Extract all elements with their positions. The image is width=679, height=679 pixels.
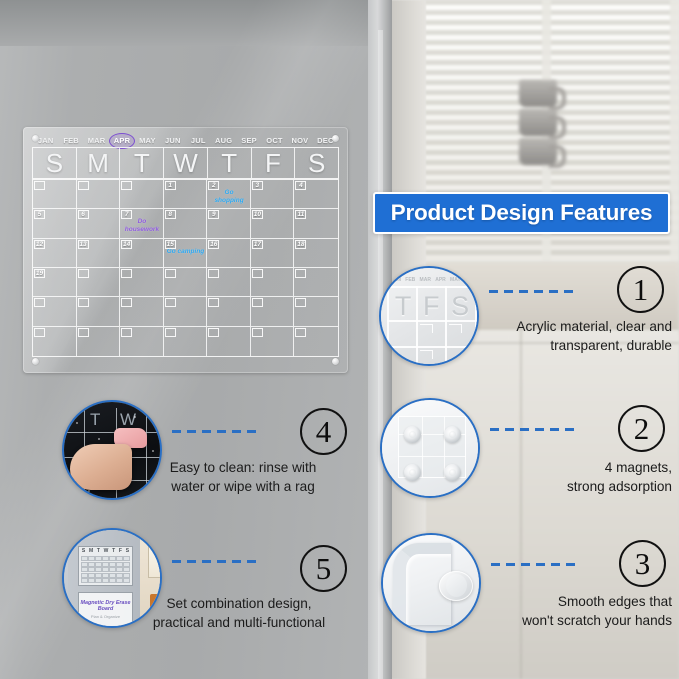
feature-4-number: 4 (300, 408, 347, 455)
calendar-date-grid[interactable]: 1Go shopping23456Do housework78910111213… (32, 179, 339, 357)
calendar-cell[interactable]: 14 (120, 239, 164, 268)
mini-calendar-cell (109, 562, 116, 567)
mini-weekday-letter: T (97, 548, 100, 555)
month-aug[interactable]: AUG (211, 136, 236, 145)
mini-calendar-cell (88, 567, 95, 572)
date-number-box: 13 (78, 240, 89, 249)
date-number-box (252, 269, 263, 278)
month-selector-row[interactable]: JANFEBMARAPRMAYJUNJULAUGSEPOCTNOVDEC (33, 133, 338, 148)
calendar-cell[interactable] (120, 268, 164, 297)
feature-3-line2: won't scratch your hands (420, 611, 672, 630)
mini-calendar-cell (123, 573, 130, 578)
date-number-box: 5 (34, 210, 45, 219)
calendar-cell[interactable]: 6 (77, 209, 121, 238)
month-sep[interactable]: SEP (236, 136, 261, 145)
feature-5-number: 5 (300, 545, 347, 592)
date-number-box: 15 (165, 240, 176, 249)
date-number-box: 8 (165, 210, 176, 219)
mini-calendar-cell (123, 567, 130, 572)
mini-weekday-letter: W (104, 548, 109, 555)
date-number-box: 12 (34, 240, 45, 249)
month-label: JUL (191, 136, 206, 145)
month-label: DEC (317, 136, 333, 145)
date-number-box (208, 298, 219, 307)
date-number-box (252, 298, 263, 307)
calendar-cell[interactable] (164, 327, 208, 356)
mini-weekday-letter: M (89, 548, 93, 555)
calendar-cell[interactable] (77, 297, 121, 326)
date-number-box (34, 181, 45, 190)
date-number-box: 3 (252, 181, 263, 190)
feature-5-connector (172, 560, 258, 563)
calendar-note: Go camping (167, 248, 205, 256)
date-number-box: 14 (121, 240, 132, 249)
feature-1-connector (489, 290, 577, 293)
mini-calendar-cell (95, 567, 102, 572)
calendar-cell[interactable]: 1 (164, 180, 208, 209)
stacked-mugs (505, 80, 591, 166)
month-oct[interactable]: OCT (262, 136, 287, 145)
date-number-box: 10 (252, 210, 263, 219)
calendar-cell[interactable]: 12 (33, 239, 77, 268)
mini-weekday-letter: S (82, 548, 85, 555)
date-number-box (78, 298, 89, 307)
calendar-cell[interactable] (33, 180, 77, 209)
date-number-box (165, 269, 176, 278)
calendar-cell[interactable] (120, 180, 164, 209)
mini-calendar-cell (81, 556, 88, 561)
feature-5-text: Set combination design, practical and mu… (108, 594, 370, 632)
mini-calendar-cell (109, 573, 116, 578)
month-label: JUN (165, 136, 181, 145)
month-label: MAY (139, 136, 156, 145)
feature-3-text: Smooth edges that won't scratch your han… (420, 592, 672, 630)
date-number-box: 1 (165, 181, 176, 190)
mini-calendar-cell (116, 567, 123, 572)
feature-4-connector (172, 430, 258, 433)
date-number-box: 18 (295, 240, 306, 249)
date-number-box (78, 328, 89, 337)
date-number-box (165, 298, 176, 307)
inset-month-label: FEB (405, 277, 415, 283)
date-number-box (121, 181, 132, 190)
date-number-box: 2 (208, 181, 219, 190)
date-number-box: 11 (295, 210, 306, 219)
calendar-cell[interactable] (294, 268, 338, 297)
calendar-cell[interactable] (164, 268, 208, 297)
mini-calendar-cell (88, 562, 95, 567)
feature-1-text: Acrylic material, clear and transparent,… (440, 317, 672, 355)
calendar-cell[interactable] (207, 327, 251, 356)
weekday-header-0: S (33, 148, 77, 178)
inset-weekday-letter: T (395, 291, 412, 322)
date-number-box: 9 (208, 210, 219, 219)
calendar-cell[interactable] (207, 268, 251, 297)
mini-calendar-cell (102, 556, 109, 561)
month-nov[interactable]: NOV (287, 136, 312, 145)
mini-calendar-cell (102, 573, 109, 578)
date-number-box: 7 (121, 210, 132, 219)
calendar-cell[interactable] (251, 297, 295, 326)
date-number-box: 4 (295, 181, 306, 190)
calendar-cell[interactable]: 11 (294, 209, 338, 238)
date-number-box (295, 328, 306, 337)
feature-4-line2: water or wipe with a rag (118, 477, 368, 496)
calendar-cell[interactable]: 19 (33, 268, 77, 297)
inset-month-label: MAR (420, 277, 431, 283)
mini-calendar-cell (116, 562, 123, 567)
calendar-cell[interactable]: 13 (77, 239, 121, 268)
mini-calendar-cell (81, 573, 88, 578)
weekday-header-3: W (164, 148, 208, 178)
feature-5-line1: Set combination design, (108, 594, 370, 613)
mini-calendar-cell (123, 562, 130, 567)
month-label: JAN (38, 136, 54, 145)
month-label: AUG (215, 136, 232, 145)
mini-weekday-letter: S (126, 548, 129, 555)
feature-2-line2: strong adsorption (440, 477, 672, 496)
calendar-cell[interactable] (120, 297, 164, 326)
calendar-cell[interactable]: Do housework7 (120, 209, 164, 238)
date-number-box: 17 (252, 240, 263, 249)
feature-1-line2: transparent, durable (440, 336, 672, 355)
month-dec[interactable]: DEC (313, 136, 338, 145)
date-number-box: 16 (208, 240, 219, 249)
calendar-cell[interactable] (251, 268, 295, 297)
calendar-cell[interactable]: 9 (207, 209, 251, 238)
feature-2-connector (490, 428, 576, 431)
mini-calendar-cell (123, 578, 130, 583)
month-feb[interactable]: FEB (58, 136, 83, 145)
inset-month-label: JUN (465, 277, 475, 283)
calendar-cell[interactable] (33, 327, 77, 356)
feature-5-line2: practical and multi-functional (108, 613, 370, 632)
mini-calendar-cell (95, 573, 102, 578)
page-title-banner: Product Design Features (373, 192, 670, 234)
date-number-box (121, 269, 132, 278)
weekday-header-5: F (252, 148, 296, 178)
calendar-cell[interactable] (77, 268, 121, 297)
calendar-cell[interactable] (251, 327, 295, 356)
calendar-cell[interactable]: 5 (33, 209, 77, 238)
weekday-header-4: T (208, 148, 252, 178)
date-number-box (78, 269, 89, 278)
calendar-cell[interactable]: 4 (294, 180, 338, 209)
calendar-cell[interactable]: 17 (251, 239, 295, 268)
month-jun[interactable]: JUN (160, 136, 185, 145)
mini-calendar-cell (102, 567, 109, 572)
month-label: APR (114, 136, 130, 145)
weekday-header-2: T (120, 148, 164, 178)
room-window (148, 538, 162, 578)
window-frame-right (670, 0, 679, 262)
mini-calendar-cell (109, 567, 116, 572)
feature-4-line1: Easy to clean: rinse with (118, 458, 368, 477)
mini-calendar-cell (123, 556, 130, 561)
date-number-box (208, 328, 219, 337)
magnet-bottom-left (32, 358, 39, 365)
date-number-box (34, 298, 45, 307)
date-number-box (78, 181, 89, 190)
weekday-header-1: M (77, 148, 121, 178)
month-label: FEB (63, 136, 79, 145)
inset-month-label: JAN (391, 277, 401, 283)
date-number-box (121, 328, 132, 337)
magnet-2 (444, 426, 461, 443)
feature-2-number: 2 (618, 405, 665, 452)
calendar-cell[interactable] (77, 180, 121, 209)
date-number-box (121, 298, 132, 307)
month-jan[interactable]: JAN (33, 136, 58, 145)
calendar-cell[interactable] (77, 327, 121, 356)
calendar-cell[interactable]: 10 (251, 209, 295, 238)
calendar-cell[interactable] (120, 327, 164, 356)
mini-calendar-cell (81, 562, 88, 567)
calendar-cell[interactable]: Go shopping2 (207, 180, 251, 209)
mini-calendar-cell (102, 562, 109, 567)
calendar-cell[interactable] (164, 297, 208, 326)
calendar-cell[interactable] (294, 327, 338, 356)
inset-month-label: APR (435, 277, 446, 283)
calendar-cell[interactable]: 16 (207, 239, 251, 268)
date-number-box (165, 328, 176, 337)
feature-4-text: Easy to clean: rinse with water or wipe … (118, 458, 368, 496)
date-number-box: 6 (78, 210, 89, 219)
month-mar[interactable]: MAR (84, 136, 109, 145)
calendar-cell[interactable]: 18 (294, 239, 338, 268)
calendar-cell[interactable] (33, 297, 77, 326)
mini-calendar-cell (81, 567, 88, 572)
calendar-cell[interactable] (207, 297, 251, 326)
feature-1-number: 1 (617, 266, 664, 313)
date-number-box (295, 269, 306, 278)
mini-calendar-cell (95, 578, 102, 583)
weekday-header-row: SMTWTFS (32, 147, 339, 179)
date-number-box: 19 (34, 269, 45, 278)
feature-3-line1: Smooth edges that (420, 592, 672, 611)
page-title: Product Design Features (391, 200, 653, 226)
mini-calendar-cell (88, 578, 95, 583)
mini-calendar-cell (116, 578, 123, 583)
mini-calendar-cell (95, 562, 102, 567)
feature-1-line1: Acrylic material, clear and (440, 317, 672, 336)
mini-calendar-board: SMTWTFS (78, 546, 133, 586)
month-jul[interactable]: JUL (186, 136, 211, 145)
mini-calendar-cell (88, 573, 95, 578)
month-label: NOV (292, 136, 309, 145)
magnet-3 (404, 464, 421, 481)
mini-calendar-cell (81, 578, 88, 583)
mini-weekday-letter: F (119, 548, 122, 555)
product-infographic: JANFEBMARAPRMAYJUNJULAUGSEPOCTNOVDEC SMT… (0, 0, 679, 679)
month-label: MAR (88, 136, 106, 145)
date-number-box (208, 269, 219, 278)
magnet-bottom-right (332, 358, 339, 365)
mini-calendar-cell (95, 556, 102, 561)
feature-2-line1: 4 magnets, (440, 458, 672, 477)
calendar-cell[interactable]: 8 (164, 209, 208, 238)
magnet-1 (404, 426, 421, 443)
mini-weekday-letter: T (112, 548, 115, 555)
month-label: OCT (266, 136, 282, 145)
feature-3-connector (491, 563, 577, 566)
month-apr[interactable]: APR (109, 136, 134, 145)
mini-calendar-cell (116, 573, 123, 578)
mini-calendar-cell (88, 556, 95, 561)
acrylic-calendar-board[interactable]: JANFEBMARAPRMAYJUNJULAUGSEPOCTNOVDEC SMT… (23, 127, 348, 373)
inset-month-label: MAY (450, 277, 461, 283)
calendar-cell[interactable]: 3 (251, 180, 295, 209)
mini-calendar-cell (109, 556, 116, 561)
mini-calendar-cell (102, 578, 109, 583)
feature-3-number: 3 (619, 540, 666, 587)
date-number-box (34, 328, 45, 337)
calendar-cell[interactable] (294, 297, 338, 326)
month-label: SEP (241, 136, 257, 145)
date-number-box (252, 328, 263, 337)
mini-calendar-cell (116, 556, 123, 561)
calendar-cell[interactable]: Go camping15 (164, 239, 208, 268)
month-may[interactable]: MAY (135, 136, 160, 145)
date-number-box (295, 298, 306, 307)
inset-weekday-letter: F (423, 291, 440, 322)
calendar-note: Do housework (123, 218, 161, 233)
calendar-note: Go shopping (210, 189, 248, 204)
weekday-header-6: S (295, 148, 338, 178)
mini-calendar-cell (109, 578, 116, 583)
feature-2-text: 4 magnets, strong adsorption (440, 458, 672, 496)
